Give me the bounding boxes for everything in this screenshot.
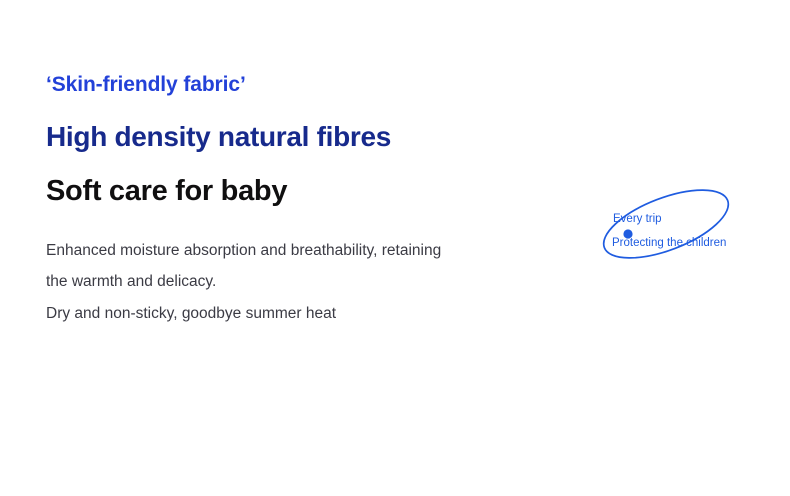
badge-text-group: Every trip Protecting the children (598, 182, 788, 274)
headline-text: High density natural fibres (46, 120, 586, 154)
body-copy: Enhanced moisture absorption and breatha… (46, 235, 586, 330)
eyebrow-text: ‘Skin-friendly fabric’ (46, 72, 586, 98)
badge-line-every-trip: Every trip (613, 212, 662, 226)
body-line: Enhanced moisture absorption and breatha… (46, 235, 586, 267)
badge-callout: Every trip Protecting the children (598, 182, 788, 274)
subhead-text: Soft care for baby (46, 174, 586, 209)
badge-line-protecting-children: Protecting the children (612, 236, 726, 250)
copy-block: ‘Skin-friendly fabric’ High density natu… (46, 72, 586, 330)
body-line: Dry and non-sticky, goodbye summer heat (46, 298, 586, 330)
promo-banner: ‘Skin-friendly fabric’ High density natu… (0, 0, 790, 496)
body-line: the warmth and delicacy. (46, 266, 586, 298)
